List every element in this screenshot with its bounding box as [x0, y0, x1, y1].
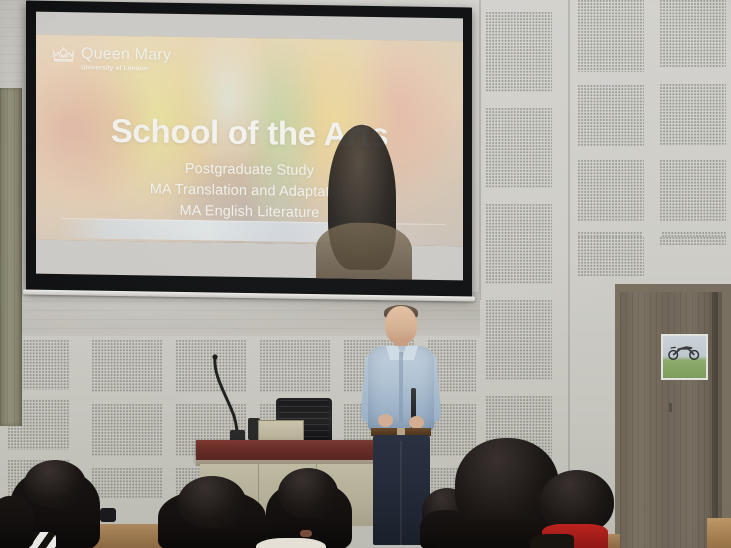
slide-text-layer: Queen Mary University of London School o…: [36, 35, 463, 247]
presenter-left-hand: [378, 414, 393, 427]
left-wall-panel: [0, 88, 22, 426]
slide-subtitle-line-1: Postgraduate Study: [185, 161, 314, 179]
entrance-door[interactable]: [620, 292, 722, 548]
ponytail-tie: [300, 530, 312, 537]
audience-member-3: [262, 468, 358, 548]
institution-subtitle: University of London: [81, 65, 171, 73]
audience-member-7: [0, 496, 36, 548]
audience-member-2: [158, 476, 268, 548]
motorcycle-icon: [666, 342, 702, 361]
queen-mary-logo: Queen Mary University of London: [52, 46, 171, 73]
crown-icon: [52, 46, 75, 63]
presentation-slide: Queen Mary University of London School o…: [36, 35, 463, 247]
desk-object: [100, 508, 116, 522]
slide-subtitle-line-2: MA Translation and Adaptation: [150, 181, 350, 200]
screen-surface: Queen Mary University of London School o…: [36, 12, 463, 281]
audience-hair: [0, 496, 34, 548]
audience-shoulder: [256, 538, 326, 548]
door-handle[interactable]: [669, 403, 672, 412]
slide-subtitle-line-3: MA English Literature: [180, 203, 320, 221]
lecture-hall-photo: Queen Mary University of London School o…: [0, 0, 731, 548]
projection-screen: Queen Mary University of London School o…: [26, 4, 472, 294]
audience-head: [278, 468, 338, 518]
door-viewing-window: [661, 334, 708, 380]
presenter-shirt-placket: [399, 352, 403, 422]
silhouette-shoulder-over-screen: [316, 222, 412, 280]
door-edge-shadow: [712, 292, 718, 548]
audience-member-6: [540, 470, 626, 548]
audience-shoulder: [530, 534, 574, 548]
queen-mary-wordmark: Queen Mary University of London: [81, 46, 171, 72]
audience-head: [178, 476, 246, 528]
lecture-desk-top: [196, 440, 376, 462]
bench-corner: [707, 518, 731, 548]
institution-name: Queen Mary: [81, 46, 171, 63]
